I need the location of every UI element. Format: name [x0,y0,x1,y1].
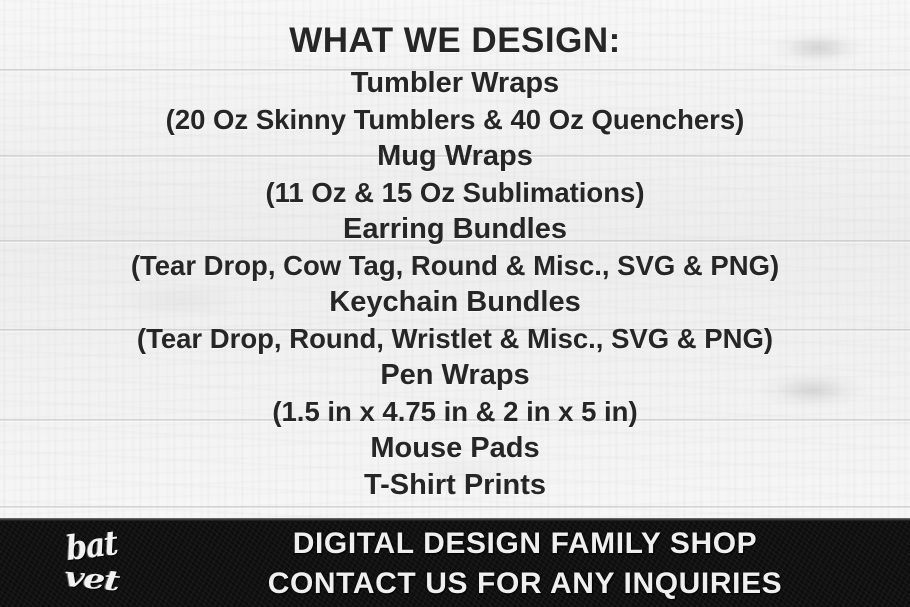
list-item-detail: (11 Oz & 15 Oz Sublimations) [0,175,910,212]
footer-shop-name: DIGITAL DESIGN FAMILY SHOP [140,524,910,564]
list-item-name: Pen Wraps [0,357,910,394]
list-item-name: Mug Wraps [0,138,910,175]
brand-logo-line-1: bat [44,530,140,563]
list-item-name: Tumbler Wraps [0,65,910,102]
list-item-detail: (1.5 in x 4.75 in & 2 in x 5 in) [0,394,910,431]
list-item-name: Earring Bundles [0,211,910,248]
page-title: WHAT WE DESIGN: [0,0,910,58]
footer-contact-cta: CONTACT US FOR ANY INQUIRIES [140,564,910,604]
list-item-name: T-Shirt Prints [0,467,910,504]
brand-logo-text-vet: vet [64,562,121,597]
brand-logo-line-2: vet [44,563,140,596]
design-list: Tumbler Wraps (20 Oz Skinny Tumblers & 4… [0,65,910,503]
list-item-detail: (Tear Drop, Round, Wristlet & Misc., SVG… [0,321,910,358]
list-item-detail: (Tear Drop, Cow Tag, Round & Misc., SVG … [0,248,910,285]
list-item-name: Keychain Bundles [0,284,910,321]
footer-top-edge [0,518,910,521]
footer-banner: bat vet DIGITAL DESIGN FAMILY SHOP CONTA… [0,518,910,607]
footer-text-block: DIGITAL DESIGN FAMILY SHOP CONTACT US FO… [140,524,910,604]
list-item-name: Mouse Pads [0,430,910,467]
list-item-detail: (20 Oz Skinny Tumblers & 40 Oz Quenchers… [0,102,910,139]
design-list-panel: WHAT WE DESIGN: Tumbler Wraps (20 Oz Ski… [0,0,910,518]
poster: WHAT WE DESIGN: Tumbler Wraps (20 Oz Ski… [0,0,910,607]
brand-logo: bat vet [44,530,140,598]
